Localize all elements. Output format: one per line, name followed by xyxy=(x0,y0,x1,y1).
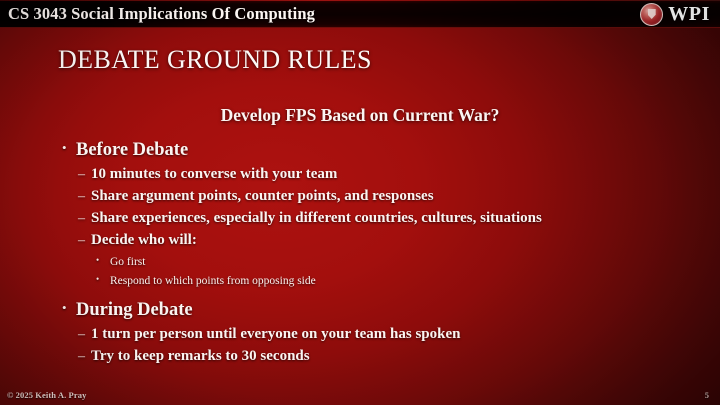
slide-subtitle: Develop FPS Based on Current War? xyxy=(0,105,720,126)
bullet-item-level-3: •Respond to which points from opposing s… xyxy=(58,275,706,287)
bullet-item-level-1: •During Debate xyxy=(58,300,706,321)
bullet-list: •Before Debate–10 minutes to converse wi… xyxy=(58,138,706,365)
bullet-text: Go first xyxy=(110,256,145,268)
bullet-marker-icon: • xyxy=(96,255,110,265)
bullet-text: 1 turn per person until everyone on your… xyxy=(91,326,460,343)
bullet-item-level-2: –Share experiences, especially in differ… xyxy=(58,210,706,227)
presentation-slide: CS 3043 Social Implications Of Computing… xyxy=(0,0,720,405)
bullet-item-level-1: •Before Debate xyxy=(58,140,706,161)
bullet-text: Before Debate xyxy=(76,140,188,161)
bullet-item-level-2: –10 minutes to converse with your team xyxy=(58,166,706,183)
bullet-text: Respond to which points from opposing si… xyxy=(110,275,316,287)
bullet-marker-icon: – xyxy=(78,167,91,183)
bullet-marker-icon: – xyxy=(78,233,91,249)
footer-page-number: 5 xyxy=(705,390,709,400)
course-title: CS 3043 Social Implications Of Computing xyxy=(8,1,315,27)
wpi-logo: WPI xyxy=(640,0,710,28)
bullet-item-level-2: –Share argument points, counter points, … xyxy=(58,188,706,205)
bullet-item-level-2: –1 turn per person until everyone on you… xyxy=(58,326,706,343)
bullet-item-level-3: •Go first xyxy=(58,256,706,268)
slide-title: DEBATE GROUND RULES xyxy=(58,45,372,75)
wpi-wordmark: WPI xyxy=(668,0,710,28)
bullet-text: Decide who will: xyxy=(91,232,197,249)
bullet-marker-icon: • xyxy=(62,300,76,316)
bullet-item-level-2: –Try to keep remarks to 30 seconds xyxy=(58,348,706,365)
bullet-marker-icon: – xyxy=(78,189,91,205)
slide-header-bar: CS 3043 Social Implications Of Computing… xyxy=(0,0,720,28)
bullet-marker-icon: – xyxy=(78,327,91,343)
bullet-marker-icon: • xyxy=(62,140,76,156)
wpi-seal-icon xyxy=(640,3,663,26)
bullet-text: Try to keep remarks to 30 seconds xyxy=(91,348,310,365)
bullet-text: 10 minutes to converse with your team xyxy=(91,166,337,183)
bullet-text: Share argument points, counter points, a… xyxy=(91,188,434,205)
bullet-item-level-2: –Decide who will: xyxy=(58,232,706,249)
footer-copyright: © 2025 Keith A. Pray xyxy=(7,390,86,400)
bullet-text: During Debate xyxy=(76,300,193,321)
bullet-marker-icon: – xyxy=(78,349,91,365)
bullet-marker-icon: – xyxy=(78,211,91,227)
bullet-text: Share experiences, especially in differe… xyxy=(91,210,542,227)
bullet-marker-icon: • xyxy=(96,274,110,284)
